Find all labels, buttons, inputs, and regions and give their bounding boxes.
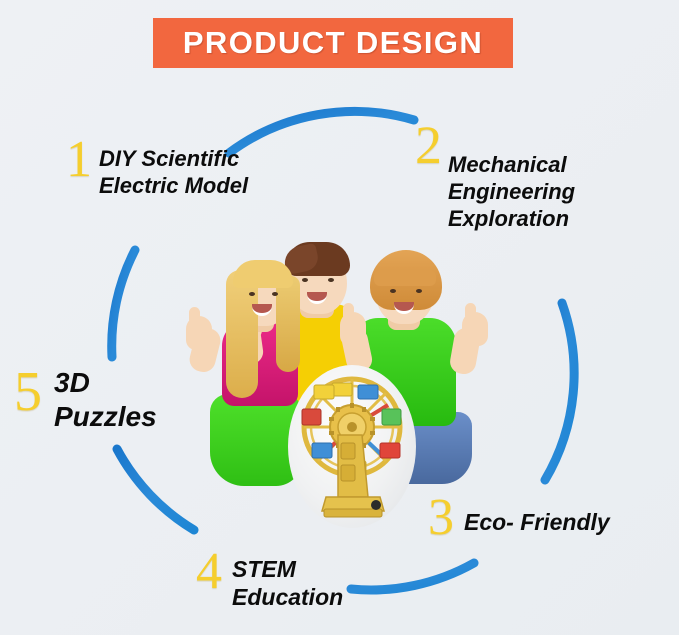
- arc-segment-top: [229, 111, 414, 153]
- feature-number-1: 1: [66, 134, 92, 186]
- feature-number-2: 2: [415, 118, 442, 172]
- kid-right-thumb-outer: [462, 312, 488, 346]
- feature-label-2: 2 Mechanical Engineering Exploration: [415, 116, 575, 232]
- kid-left-hair-tail: [276, 276, 300, 372]
- feature-label-1: 1 DIY Scientific Electric Model: [66, 130, 248, 200]
- feature-number-5: 5: [14, 364, 42, 420]
- kid-right-eye-left: [390, 289, 396, 293]
- kid-center-eye-right: [328, 278, 334, 282]
- feature-label-4: 4 STEM Education: [196, 546, 343, 611]
- arc-segment-upper-left: [112, 250, 135, 357]
- kid-right-thumb-inner: [340, 312, 366, 346]
- kid-center-eye-left: [302, 278, 308, 282]
- product-design-banner: PRODUCT DESIGN: [153, 18, 513, 68]
- feature-text-1: DIY Scientific Electric Model: [99, 146, 248, 200]
- feature-label-3: 3 Eco- Friendly: [428, 492, 610, 544]
- page-title: PRODUCT DESIGN: [183, 25, 483, 61]
- feature-number-4: 4: [196, 546, 222, 598]
- kid-left-eye-left: [249, 292, 255, 296]
- product-design-infographic: PRODUCT DESIGN: [0, 0, 679, 635]
- feature-label-5: 5 3D Puzzles: [14, 362, 157, 434]
- feature-text-4: STEM Education: [232, 555, 343, 611]
- kid-left-eye-right: [272, 292, 278, 296]
- kid-left-thumb-outer: [186, 316, 212, 350]
- arc-segment-right: [545, 303, 574, 480]
- feature-text-3: Eco- Friendly: [464, 508, 610, 536]
- feature-text-5: 3D Puzzles: [54, 366, 157, 434]
- feature-text-2: Mechanical Engineering Exploration: [448, 152, 575, 232]
- kid-right-hair-fringe: [374, 270, 436, 286]
- feature-number-3: 3: [428, 492, 454, 544]
- ferris-wheel-product: [288, 365, 416, 528]
- arc-segment-bottom: [351, 563, 474, 590]
- kid-left-hair-top: [233, 260, 293, 288]
- kid-right-eye-right: [416, 289, 422, 293]
- kid-left-hair-long: [226, 270, 258, 398]
- ferris-wheel-illustration: [288, 365, 416, 528]
